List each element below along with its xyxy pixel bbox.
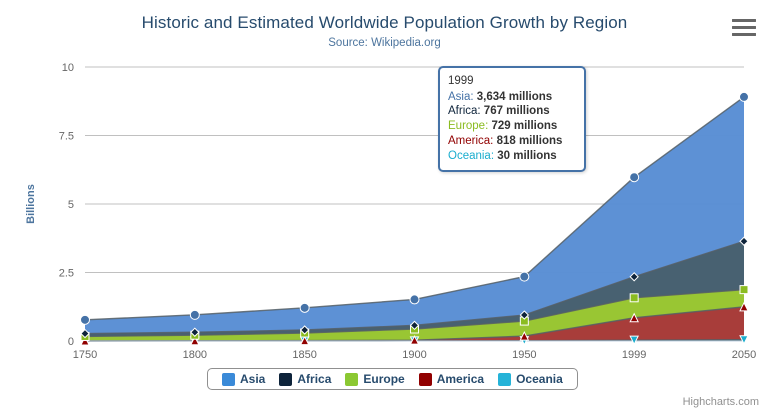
plot-area: 02.557.510 1750180018501900195019992050 … [0, 0, 769, 416]
marker-circle [740, 92, 749, 101]
tooltip: 1999 Asia: 3,634 millionsAfrica: 767 mil… [438, 66, 586, 172]
x-tick-label: 1800 [183, 349, 207, 361]
y-tick-label: 7.5 [59, 131, 74, 143]
tooltip-series-value: 30 millions [497, 150, 556, 162]
marker-circle [520, 272, 529, 281]
legend-item-asia[interactable]: Asia [215, 372, 272, 386]
legend-item-africa[interactable]: Africa [272, 372, 338, 386]
x-tick-label: 1950 [512, 349, 536, 361]
legend-label: Oceania [516, 372, 563, 386]
x-tick-label: 1999 [622, 349, 646, 361]
tooltip-series-value: 818 millions [497, 135, 563, 147]
x-tick-label: 2050 [732, 349, 756, 361]
tooltip-row: Europe: 729 millions [448, 119, 576, 134]
legend-swatch [222, 373, 235, 386]
legend-swatch [419, 373, 432, 386]
legend: AsiaAfricaEuropeAmericaOceania [207, 368, 578, 390]
tooltip-row: Africa: 767 millions [448, 104, 576, 119]
y-axis-title: Billions [25, 184, 37, 224]
highcharts-container: Historic and Estimated Worldwide Populat… [0, 0, 769, 416]
y-tick-label: 5 [68, 199, 74, 211]
legend-swatch [498, 373, 511, 386]
legend-item-oceania[interactable]: Oceania [491, 372, 570, 386]
tooltip-series-name: Asia: [448, 91, 477, 103]
y-axis-tick-labels: 02.557.510 [59, 62, 74, 348]
legend-label: Africa [297, 372, 331, 386]
marker-circle [81, 315, 90, 324]
tooltip-series-value: 3,634 millions [477, 91, 552, 103]
legend-swatch [345, 373, 358, 386]
x-tick-label: 1900 [402, 349, 426, 361]
legend-item-america[interactable]: America [412, 372, 491, 386]
y-axis-title-text: Billions [25, 184, 37, 224]
x-tick-label: 1850 [292, 349, 316, 361]
marker-square [630, 294, 638, 302]
marker-circle [300, 303, 309, 312]
marker-circle [410, 295, 419, 304]
tooltip-series-name: America: [448, 135, 497, 147]
tooltip-series-name: Europe: [448, 120, 491, 132]
y-tick-label: 0 [68, 336, 74, 348]
tooltip-series-value: 767 millions [484, 105, 550, 117]
y-tick-label: 10 [62, 62, 74, 74]
legend-label: America [437, 372, 484, 386]
legend-label: Asia [240, 372, 265, 386]
tooltip-header: 1999 [448, 74, 576, 90]
legend-item-europe[interactable]: Europe [338, 372, 411, 386]
tooltip-series-value: 729 millions [491, 120, 557, 132]
tooltip-series-name: Africa: [448, 105, 484, 117]
marker-square [740, 286, 748, 294]
y-tick-label: 2.5 [59, 268, 74, 280]
tooltip-row: America: 818 millions [448, 134, 576, 149]
legend-label: Europe [363, 372, 404, 386]
legend-swatch [279, 373, 292, 386]
tooltip-row: Asia: 3,634 millions [448, 90, 576, 105]
tooltip-row: Oceania: 30 millions [448, 149, 576, 164]
x-tick-label: 1750 [73, 349, 97, 361]
tooltip-series-name: Oceania: [448, 150, 497, 162]
marker-circle [190, 310, 199, 319]
marker-circle [630, 173, 639, 182]
x-axis-tick-labels: 1750180018501900195019992050 [73, 349, 756, 361]
tooltip-rows: Asia: 3,634 millionsAfrica: 767 millions… [448, 90, 576, 164]
credits-link[interactable]: Highcharts.com [683, 396, 759, 408]
